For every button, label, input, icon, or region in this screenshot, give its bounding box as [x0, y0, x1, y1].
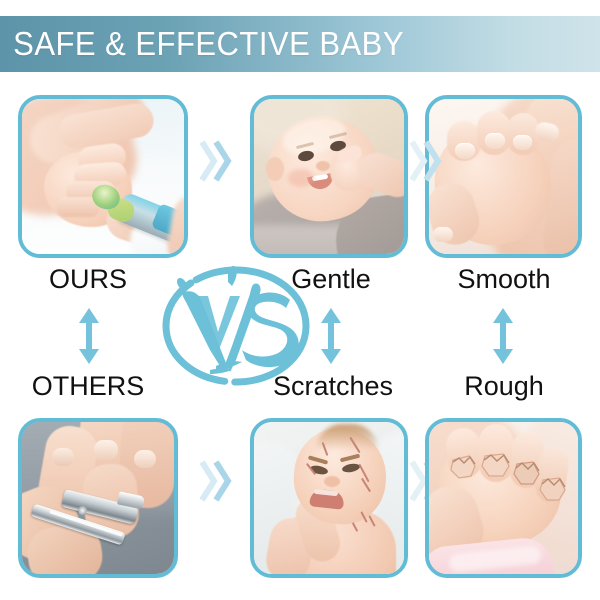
- image-crying-baby-scratches: [254, 422, 404, 574]
- image-others-metal-clipper: [22, 422, 174, 574]
- panel-others-nail-result: [425, 418, 582, 578]
- panel-ours-product: [18, 95, 188, 258]
- image-gentle-smiling-baby: [254, 99, 404, 254]
- image-rough-baby-nails: [429, 422, 578, 574]
- vs-emblem-icon: [150, 262, 322, 390]
- caption-smooth: Smooth: [457, 264, 550, 295]
- vertical-arrow-icon-gentle-scratches: [320, 308, 342, 364]
- chevron-right-icon-bottom-left: [200, 460, 234, 507]
- chevron-right-icon-top-right: [410, 140, 444, 187]
- panel-ours-baby-mood: [250, 95, 408, 258]
- caption-others: OTHERS: [32, 371, 145, 402]
- panel-ours-nail-result: [425, 95, 582, 258]
- chevron-right-icon-top-left: [200, 140, 234, 187]
- image-smooth-baby-nails: [429, 99, 578, 254]
- vertical-arrow-icon-ours-others: [78, 308, 100, 364]
- panel-others-product: [18, 418, 178, 578]
- vertical-arrow-icon-smooth-rough: [492, 308, 514, 364]
- page-title: SAFE & EFFECTIVE BABY: [0, 25, 404, 63]
- image-ours-product: [22, 99, 184, 254]
- page-header-banner: SAFE & EFFECTIVE BABY: [0, 16, 600, 72]
- caption-ours: OURS: [49, 264, 127, 295]
- panel-others-baby-mood: [250, 418, 408, 578]
- caption-rough: Rough: [464, 371, 544, 402]
